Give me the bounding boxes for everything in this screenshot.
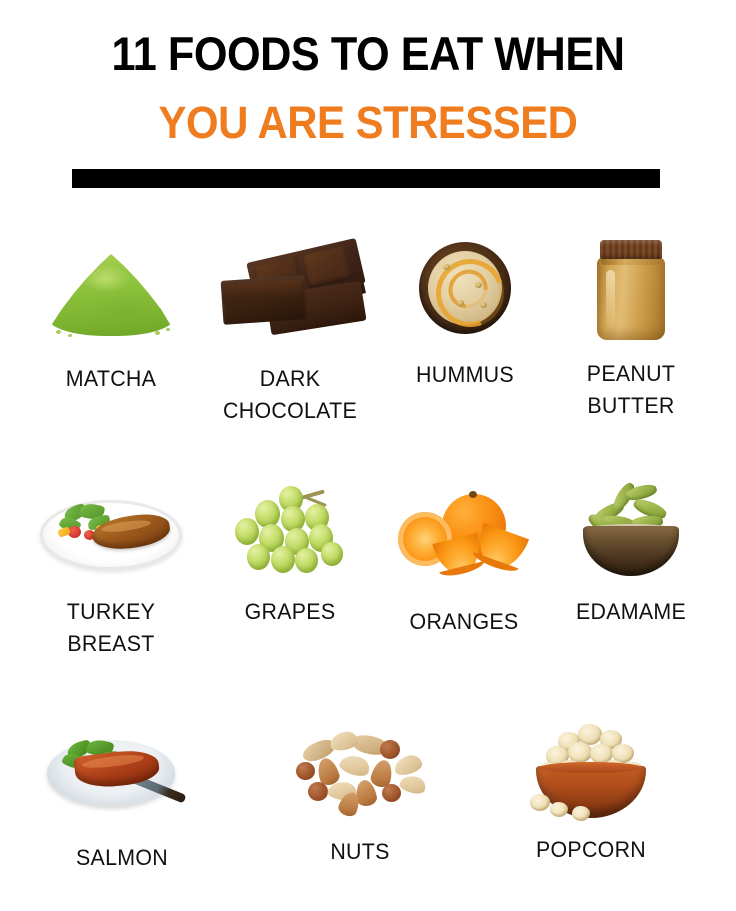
food-label-line-2: BREAST bbox=[26, 628, 195, 660]
food-label-line-1: HUMMUS bbox=[386, 359, 544, 391]
food-item-hummus: HUMMUS bbox=[382, 240, 548, 391]
food-label-line-2: BUTTER bbox=[552, 390, 710, 422]
title-divider-bar bbox=[72, 169, 660, 188]
turkey-breast-plate-icon bbox=[40, 488, 182, 574]
food-label-line-1: EDAMAME bbox=[552, 596, 710, 628]
food-label-line-1: POPCORN bbox=[522, 834, 661, 866]
food-item-dark-chocolate: DARK CHOCOLATE bbox=[200, 240, 380, 427]
oranges-icon bbox=[396, 492, 532, 580]
food-label-line-1: GRAPES bbox=[205, 596, 376, 628]
edamame-bowl-icon bbox=[579, 484, 683, 576]
mixed-nuts-icon bbox=[290, 730, 430, 814]
food-item-oranges: ORANGES bbox=[380, 482, 548, 638]
food-label-line-1: MATCHA bbox=[26, 363, 195, 395]
food-label-line-1: TURKEY bbox=[26, 596, 195, 628]
food-item-nuts: NUTS bbox=[288, 722, 432, 868]
salmon-plate-icon bbox=[47, 726, 197, 814]
poster-header: 11 FOODS TO EAT WHEN YOU ARE STRESSED bbox=[0, 0, 736, 205]
peanut-butter-jar-icon bbox=[597, 240, 665, 340]
matcha-powder-icon bbox=[48, 246, 174, 338]
food-item-popcorn: POPCORN bbox=[518, 722, 664, 866]
title-line-accent: YOU ARE STRESSED bbox=[26, 100, 710, 145]
food-item-salmon: SALMON bbox=[46, 722, 198, 874]
infographic-poster: 11 FOODS TO EAT WHEN YOU ARE STRESSED MA… bbox=[0, 0, 736, 911]
food-label-line-1: NUTS bbox=[292, 836, 429, 868]
food-row-1: MATCHA DARK CHOCOLATE bbox=[0, 240, 736, 455]
food-item-matcha: MATCHA bbox=[22, 240, 200, 395]
food-item-grapes: GRAPES bbox=[200, 482, 380, 628]
food-row-2: TURKEY BREAST bbox=[0, 482, 736, 697]
food-label-line-1: ORANGES bbox=[384, 606, 544, 638]
hummus-bowl-icon bbox=[419, 242, 511, 334]
popcorn-bowl-icon bbox=[528, 722, 654, 818]
food-row-3: SALMON NUTS bbox=[0, 722, 736, 911]
food-item-peanut-butter: PEANUT BUTTER bbox=[548, 240, 714, 422]
title-line-primary: 11 FOODS TO EAT WHEN bbox=[29, 30, 706, 77]
food-label-line-1: DARK bbox=[205, 363, 376, 395]
food-label-line-1: SALMON bbox=[50, 842, 194, 874]
food-label-line-2: CHOCOLATE bbox=[205, 395, 376, 427]
food-item-edamame: EDAMAME bbox=[548, 482, 714, 628]
dark-chocolate-icon bbox=[216, 244, 364, 336]
food-label-line-1: PEANUT bbox=[552, 358, 710, 390]
green-grapes-icon bbox=[229, 484, 351, 576]
food-item-turkey-breast: TURKEY BREAST bbox=[22, 482, 200, 660]
